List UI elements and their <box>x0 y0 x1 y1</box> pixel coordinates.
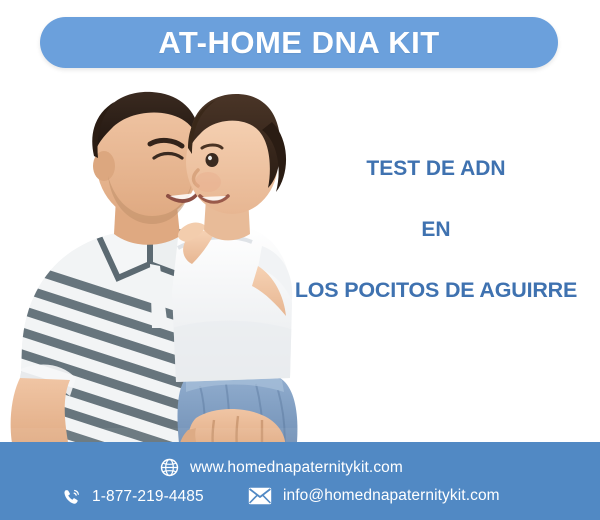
footer-website-label: www.homednapaternitykit.com <box>190 460 403 476</box>
footer-phone[interactable]: 1-877-219-4485 <box>62 487 204 506</box>
phone-icon <box>62 487 81 506</box>
footer-website[interactable]: www.homednapaternitykit.com <box>160 458 403 477</box>
poster-canvas: AT-HOME DNA KIT <box>0 0 600 520</box>
footer-phone-label: 1-877-219-4485 <box>92 489 204 505</box>
envelope-icon <box>248 487 272 505</box>
banner-title: AT-HOME DNA KIT <box>158 27 439 58</box>
footer-email[interactable]: info@homednapaternitykit.com <box>248 487 500 505</box>
globe-icon <box>160 458 179 477</box>
headline-line-3: LOS POCITOS DE AGUIRRE <box>272 280 600 302</box>
headline-line-1: TEST DE ADN <box>272 158 600 179</box>
headline-line-2: EN <box>272 219 600 240</box>
footer-email-label: info@homednapaternitykit.com <box>283 488 500 504</box>
footer-bar: www.homednapaternitykit.com 1-877-219-44… <box>0 442 600 520</box>
top-banner: AT-HOME DNA KIT <box>40 17 558 68</box>
headline-block: TEST DE ADN EN LOS POCITOS DE AGUIRRE <box>272 158 600 302</box>
